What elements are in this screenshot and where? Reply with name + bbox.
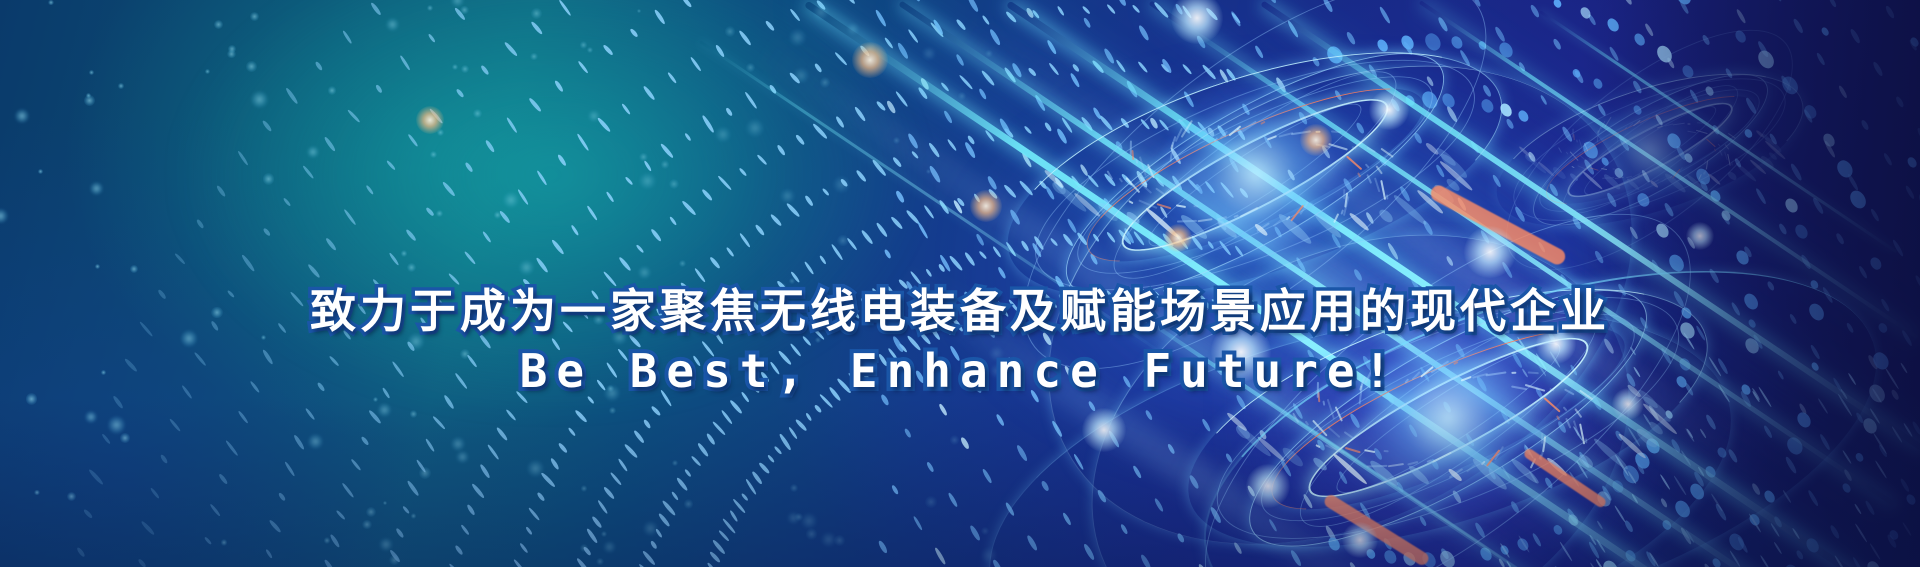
sparkle [970, 190, 1002, 222]
sparkle [416, 106, 444, 134]
banner-copy: 致力于成为一家聚焦无线电装备及赋能场景应用的现代企业 Be Best, Enha… [0, 288, 1920, 394]
sparkle [1300, 124, 1332, 156]
headline-chinese: 致力于成为一家聚焦无线电装备及赋能场景应用的现代企业 [0, 288, 1920, 334]
bottom-vignette [0, 397, 1920, 567]
sparkle [1164, 224, 1192, 252]
sparkle [1464, 226, 1516, 278]
sparkle [1171, 0, 1223, 44]
headline-english: Be Best, Enhance Future! [0, 348, 1920, 394]
sparkle [1369, 90, 1409, 130]
sparkle [852, 42, 888, 78]
hero-banner: 致力于成为一家聚焦无线电装备及赋能场景应用的现代企业 Be Best, Enha… [0, 0, 1920, 567]
